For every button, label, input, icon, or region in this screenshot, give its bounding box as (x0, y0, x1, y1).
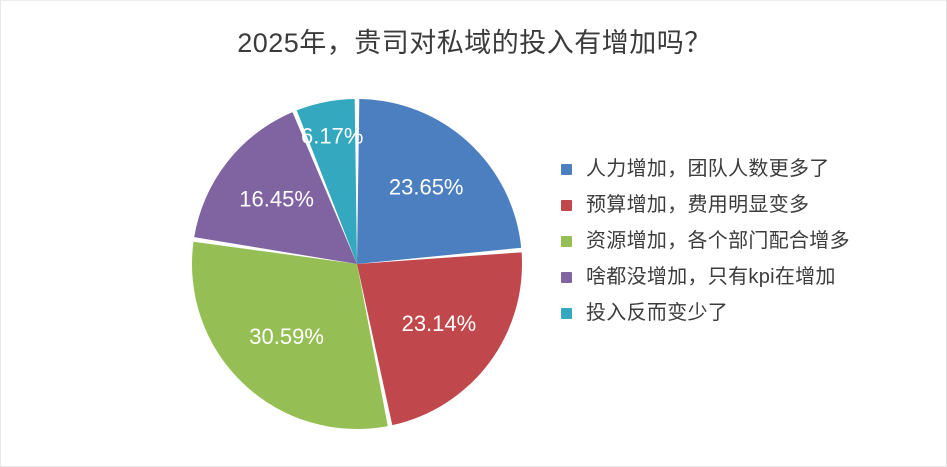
legend-item-label: 预算增加，费用明显变多 (586, 195, 809, 215)
legend-item-label: 资源增加，各个部门配合增多 (586, 231, 850, 251)
legend-item[interactable]: 资源增加，各个部门配合增多 (561, 223, 921, 259)
legend-item[interactable]: 预算增加，费用明显变多 (561, 187, 921, 223)
pie-slice-value-label: 6.17% (301, 124, 363, 149)
chart-legend: 人力增加，团队人数更多了预算增加，费用明显变多资源增加，各个部门配合增多啥都没增… (561, 151, 921, 331)
legend-color-swatch-icon (561, 272, 572, 283)
pie-chart: 23.65%23.14%30.59%16.45%6.17% (189, 96, 525, 432)
pie-slice-value-label: 23.65% (389, 175, 464, 200)
legend-item[interactable]: 投入反而变少了 (561, 295, 921, 331)
legend-item-label: 啥都没增加，只有kpi在增加 (586, 267, 836, 287)
pie-slice-group (192, 99, 522, 429)
pie-slice-value-label: 23.14% (402, 311, 477, 336)
pie-chart-svg: 23.65%23.14%30.59%16.45%6.17% (189, 96, 525, 432)
chart-canvas: 2025年，贵司对私域的投入有增加吗？ 23.65%23.14%30.59%16… (0, 0, 947, 467)
legend-item[interactable]: 人力增加，团队人数更多了 (561, 151, 921, 187)
legend-color-swatch-icon (561, 164, 572, 175)
legend-item-label: 人力增加，团队人数更多了 (586, 159, 830, 179)
legend-color-swatch-icon (561, 236, 572, 247)
pie-slice-value-label: 16.45% (239, 187, 314, 212)
legend-color-swatch-icon (561, 200, 572, 211)
legend-item[interactable]: 啥都没增加，只有kpi在增加 (561, 259, 921, 295)
chart-title: 2025年，贵司对私域的投入有增加吗？ (1, 21, 947, 60)
legend-color-swatch-icon (561, 308, 572, 319)
pie-slice-value-label: 30.59% (249, 324, 324, 349)
legend-item-label: 投入反而变少了 (586, 303, 728, 323)
